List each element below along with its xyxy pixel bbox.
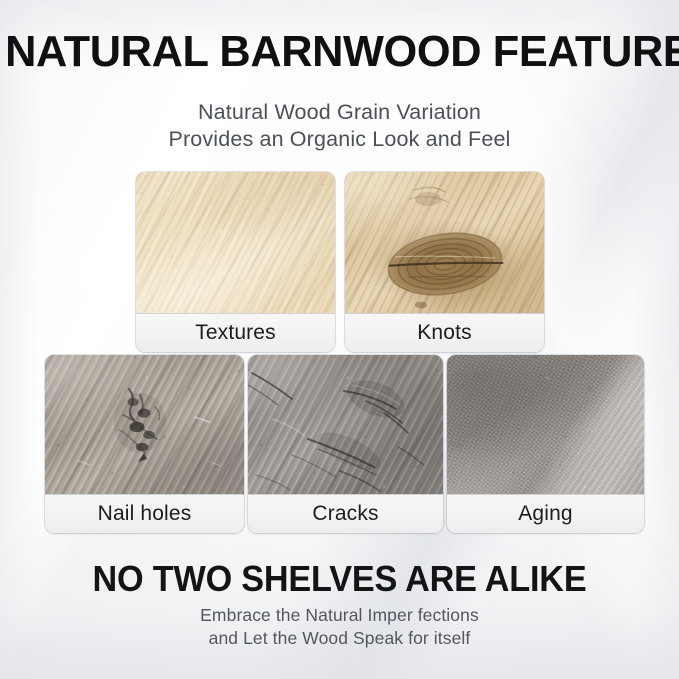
swatch-cracks (248, 355, 443, 494)
feature-card-knots[interactable]: Knots (345, 172, 544, 352)
poster-content: NATURAL BARNWOOD FEATURES Natural Wood G… (0, 0, 679, 679)
subheadline: Natural Wood Grain Variation Provides an… (0, 99, 679, 152)
headline-top: NATURAL BARNWOOD FEATURES (5, 27, 674, 77)
wood-shading (136, 172, 335, 313)
barnwood-features-infographic: NATURAL BARNWOOD FEATURES Natural Wood G… (0, 0, 679, 679)
caption-knots: Knots (345, 313, 544, 352)
wood-shading (447, 355, 644, 494)
subheadline-line-1: Natural Wood Grain Variation (0, 99, 679, 126)
nail-hole-detail-icon (45, 355, 244, 494)
headline-bottom: NO TWO SHELVES ARE ALIKE (17, 558, 662, 600)
caption-label: Nail holes (98, 502, 192, 526)
feature-card-textures[interactable]: Textures (136, 172, 335, 352)
caption-aging: Aging (447, 494, 644, 533)
footnote-line-2: and Let the Wood Speak for itself (0, 627, 679, 650)
swatch-nail-holes (45, 355, 244, 494)
feature-card-cracks[interactable]: Cracks (248, 355, 443, 533)
swatch-textures-inner (136, 172, 335, 313)
swatch-textures (136, 172, 335, 313)
footnote: Embrace the Natural Imper fections and L… (0, 604, 679, 649)
crack-detail-icon (248, 355, 443, 494)
caption-label: Textures (195, 321, 276, 345)
swatch-aging (447, 355, 644, 494)
wood-shading (345, 172, 544, 313)
swatch-knots-shade-inner (345, 172, 544, 313)
caption-label: Aging (518, 502, 572, 526)
caption-textures: Textures (136, 313, 335, 352)
feature-card-nail-holes[interactable]: Nail holes (45, 355, 244, 533)
subheadline-line-2: Provides an Organic Look and Feel (0, 126, 679, 153)
swatch-aging-inner (447, 355, 644, 494)
footnote-line-1: Embrace the Natural Imper fections (0, 604, 679, 627)
caption-label: Cracks (312, 502, 378, 526)
feature-card-aging[interactable]: Aging (447, 355, 644, 533)
caption-label: Knots (417, 321, 471, 345)
caption-cracks: Cracks (248, 494, 443, 533)
swatch-knots (345, 172, 544, 313)
caption-nail-holes: Nail holes (45, 494, 244, 533)
